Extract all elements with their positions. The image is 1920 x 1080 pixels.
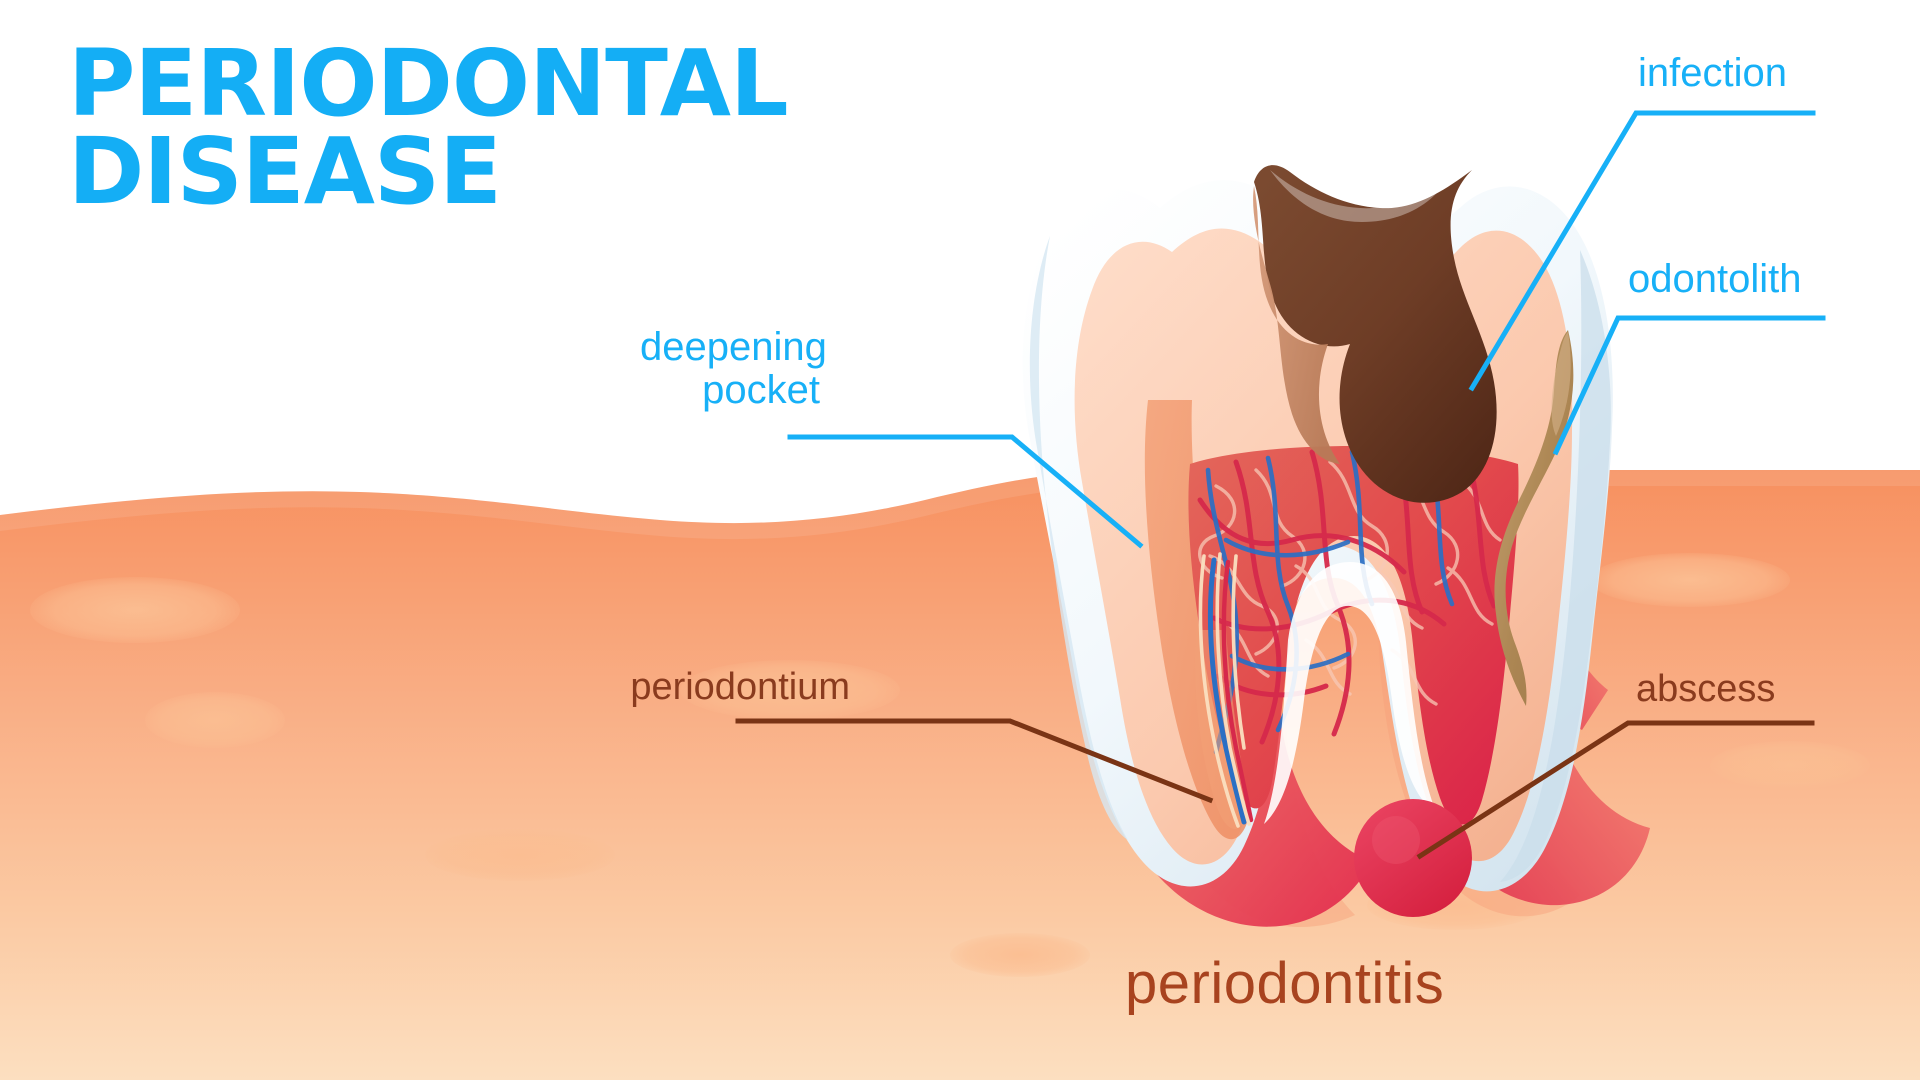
label-periodontium: periodontium: [600, 666, 850, 709]
label-abscess: abscess: [1636, 668, 1836, 711]
label-deepening-pocket: deepening pocket: [640, 326, 820, 412]
abscess-lesion: [1354, 799, 1472, 917]
page-title: PERIODONTAL DISEASE: [68, 40, 788, 217]
label-odontolith: odontolith: [1628, 258, 1868, 301]
gum-tissue: [0, 470, 1920, 1080]
diagram-caption: periodontitis: [1125, 950, 1444, 1017]
label-infection: infection: [1638, 52, 1838, 95]
infographic-canvas: PERIODONTAL DISEASE deepening pocket inf…: [0, 0, 1920, 1080]
